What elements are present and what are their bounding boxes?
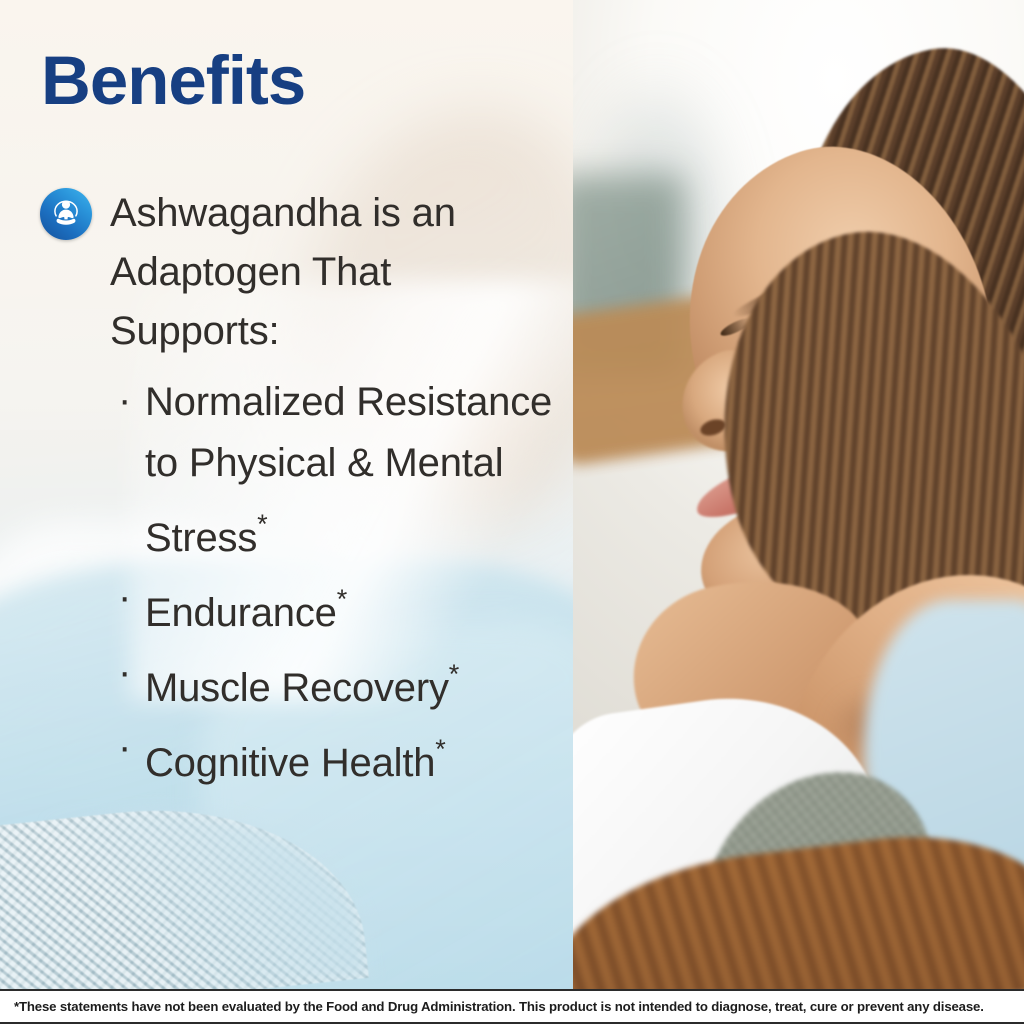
benefit-text: Cognitive Health — [145, 741, 435, 785]
list-item: Normalized Resistance to Physical & Ment… — [118, 372, 568, 569]
benefit-text: Muscle Recovery — [145, 666, 449, 710]
lotus-meditation-icon — [40, 188, 92, 240]
panel-content: Benefits Ashwagandha is an Adaptogen Tha… — [0, 0, 573, 989]
list-item: Cognitive Health* — [118, 719, 568, 794]
footnote-marker: * — [337, 584, 347, 614]
footnote-marker: * — [257, 509, 267, 539]
benefit-text: Normalized Resistance to Physical & Ment… — [145, 380, 552, 560]
product-benefits-graphic: Benefits Ashwagandha is an Adaptogen Tha… — [0, 0, 1024, 1024]
page-title: Benefits — [41, 46, 305, 115]
benefits-list: Normalized Resistance to Physical & Ment… — [118, 372, 568, 794]
list-item: Endurance* — [118, 569, 568, 644]
lede-text: Ashwagandha is an Adaptogen That Support… — [110, 184, 510, 361]
disclaimer-text: *These statements have not been evaluate… — [0, 999, 984, 1014]
benefit-text: Endurance — [145, 591, 337, 635]
footnote-marker: * — [449, 659, 459, 689]
footnote-marker: * — [435, 734, 445, 764]
list-item: Muscle Recovery* — [118, 644, 568, 719]
lifestyle-photo — [573, 0, 1024, 989]
disclaimer-bar: *These statements have not been evaluate… — [0, 989, 1024, 1024]
